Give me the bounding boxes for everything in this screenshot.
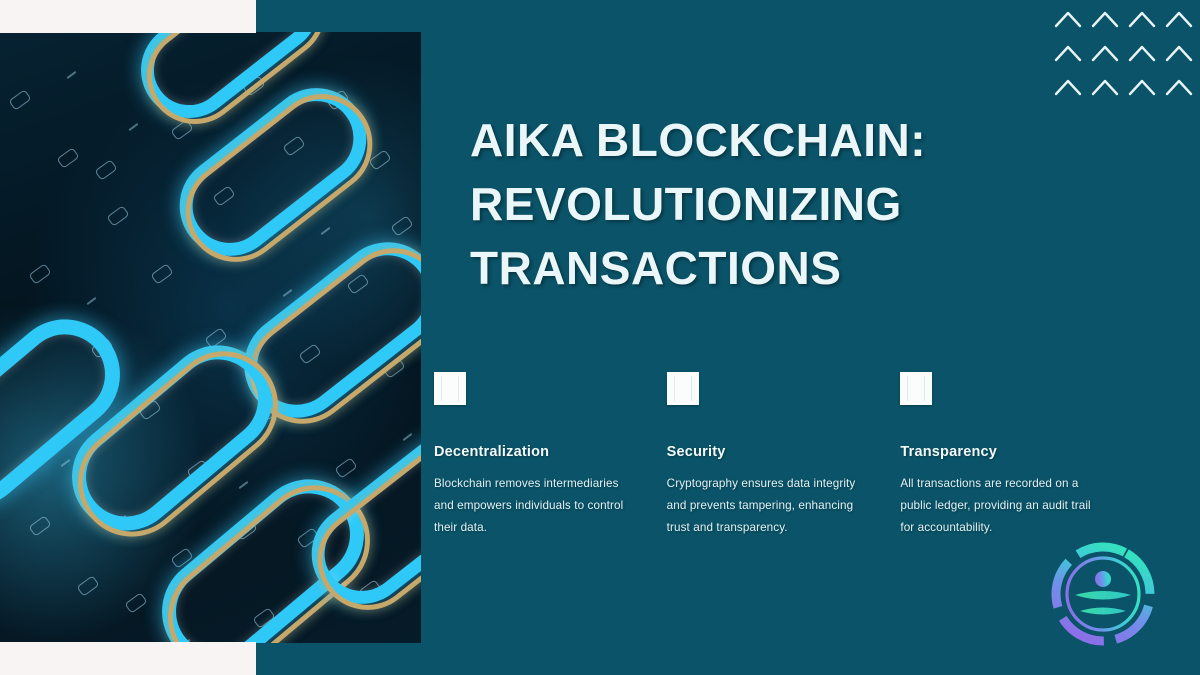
accent-strip-top (0, 0, 256, 33)
chevron-up-icon (1167, 47, 1191, 60)
logo-head-dot (1095, 571, 1111, 587)
square-icon (434, 372, 466, 405)
feature-heading: Transparency (900, 444, 1092, 460)
feature-heading: Security (667, 444, 859, 460)
chevron-up-icon (1167, 13, 1191, 26)
feature-heading: Decentralization (434, 444, 626, 460)
chevron-up-icon (1130, 81, 1154, 94)
chevron-up-icon (1130, 13, 1154, 26)
chevron-up-icon (1130, 47, 1154, 60)
chevron-up-icon (1093, 13, 1117, 26)
hero-image (0, 32, 421, 643)
accent-strip-bottom (0, 642, 256, 675)
feature-body: Blockchain removes intermediaries and em… (434, 473, 626, 539)
slide-title: AIKA BLOCKCHAIN: REVOLUTIONIZING TRANSAC… (470, 108, 1110, 300)
chevron-up-icon (1056, 47, 1080, 60)
feature-body: All transactions are recorded on a publi… (900, 473, 1092, 539)
chevron-up-icon (1056, 81, 1080, 94)
square-icon (667, 372, 699, 405)
chevron-up-icon (1093, 81, 1117, 94)
feature-item-decentralization: Decentralization Blockchain removes inte… (434, 372, 668, 539)
feature-body: Cryptography ensures data integrity and … (667, 473, 859, 539)
logo-lower-bar (1080, 608, 1126, 615)
feature-list: Decentralization Blockchain removes inte… (434, 372, 1134, 539)
chevron-up-icon (1056, 13, 1080, 26)
aika-logo (1047, 538, 1159, 650)
chevron-up-icon (1167, 81, 1191, 94)
logo-upper-bar (1075, 591, 1131, 600)
feature-item-security: Security Cryptography ensures data integ… (667, 372, 901, 539)
chevron-up-icon (1093, 47, 1117, 60)
chevron-pattern (1050, 4, 1200, 104)
feature-item-transparency: Transparency All transactions are record… (900, 372, 1134, 539)
square-icon (900, 372, 932, 405)
